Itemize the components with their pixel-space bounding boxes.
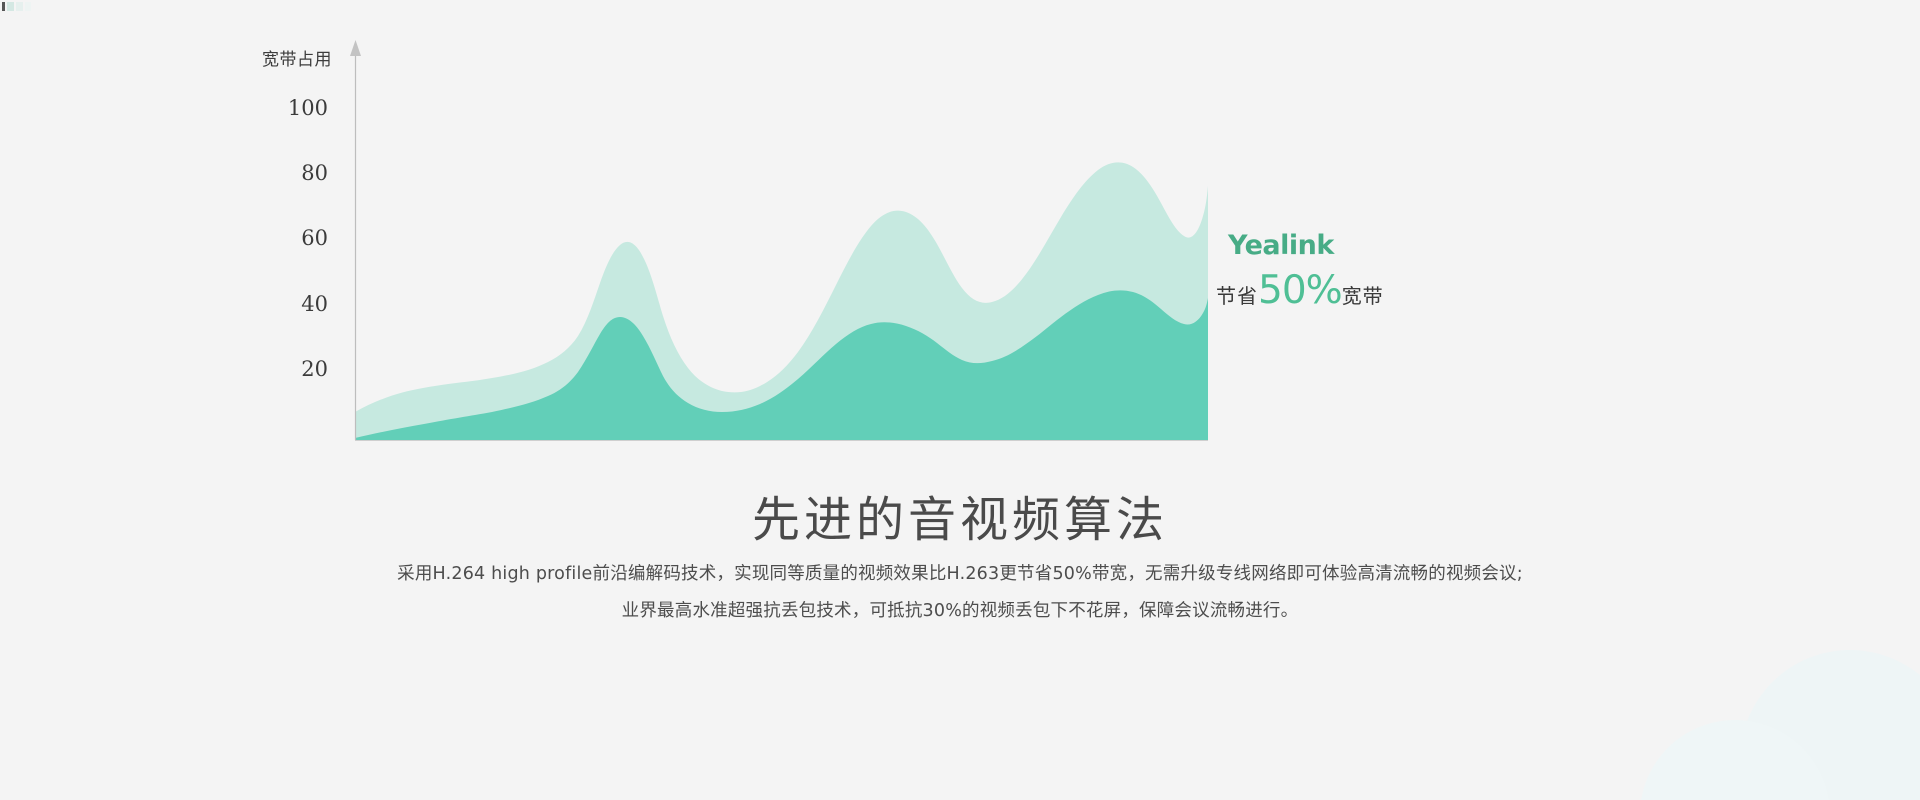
y-tick-20: 20 <box>258 357 328 381</box>
description-paragraph: 采用H.264 high profile前沿编解码技术，实现同等质量的视频效果比… <box>0 556 1920 630</box>
decorative-circle-small <box>1640 720 1830 800</box>
savings-number: 50% <box>1258 268 1342 313</box>
savings-suffix: 宽带 <box>1342 284 1384 308</box>
y-tick-80: 80 <box>258 161 328 185</box>
savings-annotation: Yealink 节省50%宽带 <box>1216 232 1546 310</box>
y-tick-100: 100 <box>258 96 328 120</box>
area-series-yealink <box>355 290 1208 440</box>
yealink-logo: Yealink <box>1216 232 1546 259</box>
page-root: 宽带占用 100 80 60 40 20 Yealink 节省50%宽带 先进的… <box>0 0 1920 800</box>
description-line-1: 采用H.264 high profile前沿编解码技术，实现同等质量的视频效果比… <box>0 556 1920 593</box>
description-line-2: 业界最高水准超强抗丢包技术，可抵抗30%的视频丢包下不花屏，保障会议流畅进行。 <box>0 593 1920 630</box>
y-axis-arrow-icon <box>350 40 361 56</box>
bandwidth-area-chart: 宽带占用 100 80 60 40 20 <box>0 0 1920 470</box>
page-title: 先进的音视频算法 <box>0 480 1920 550</box>
savings-prefix: 节省 <box>1216 284 1258 308</box>
savings-text: 节省50%宽带 <box>1216 271 1546 310</box>
y-tick-40: 40 <box>258 292 328 316</box>
y-axis-title: 宽带占用 <box>262 45 332 70</box>
y-tick-60: 60 <box>258 226 328 250</box>
decorative-circle-large <box>1740 650 1920 800</box>
